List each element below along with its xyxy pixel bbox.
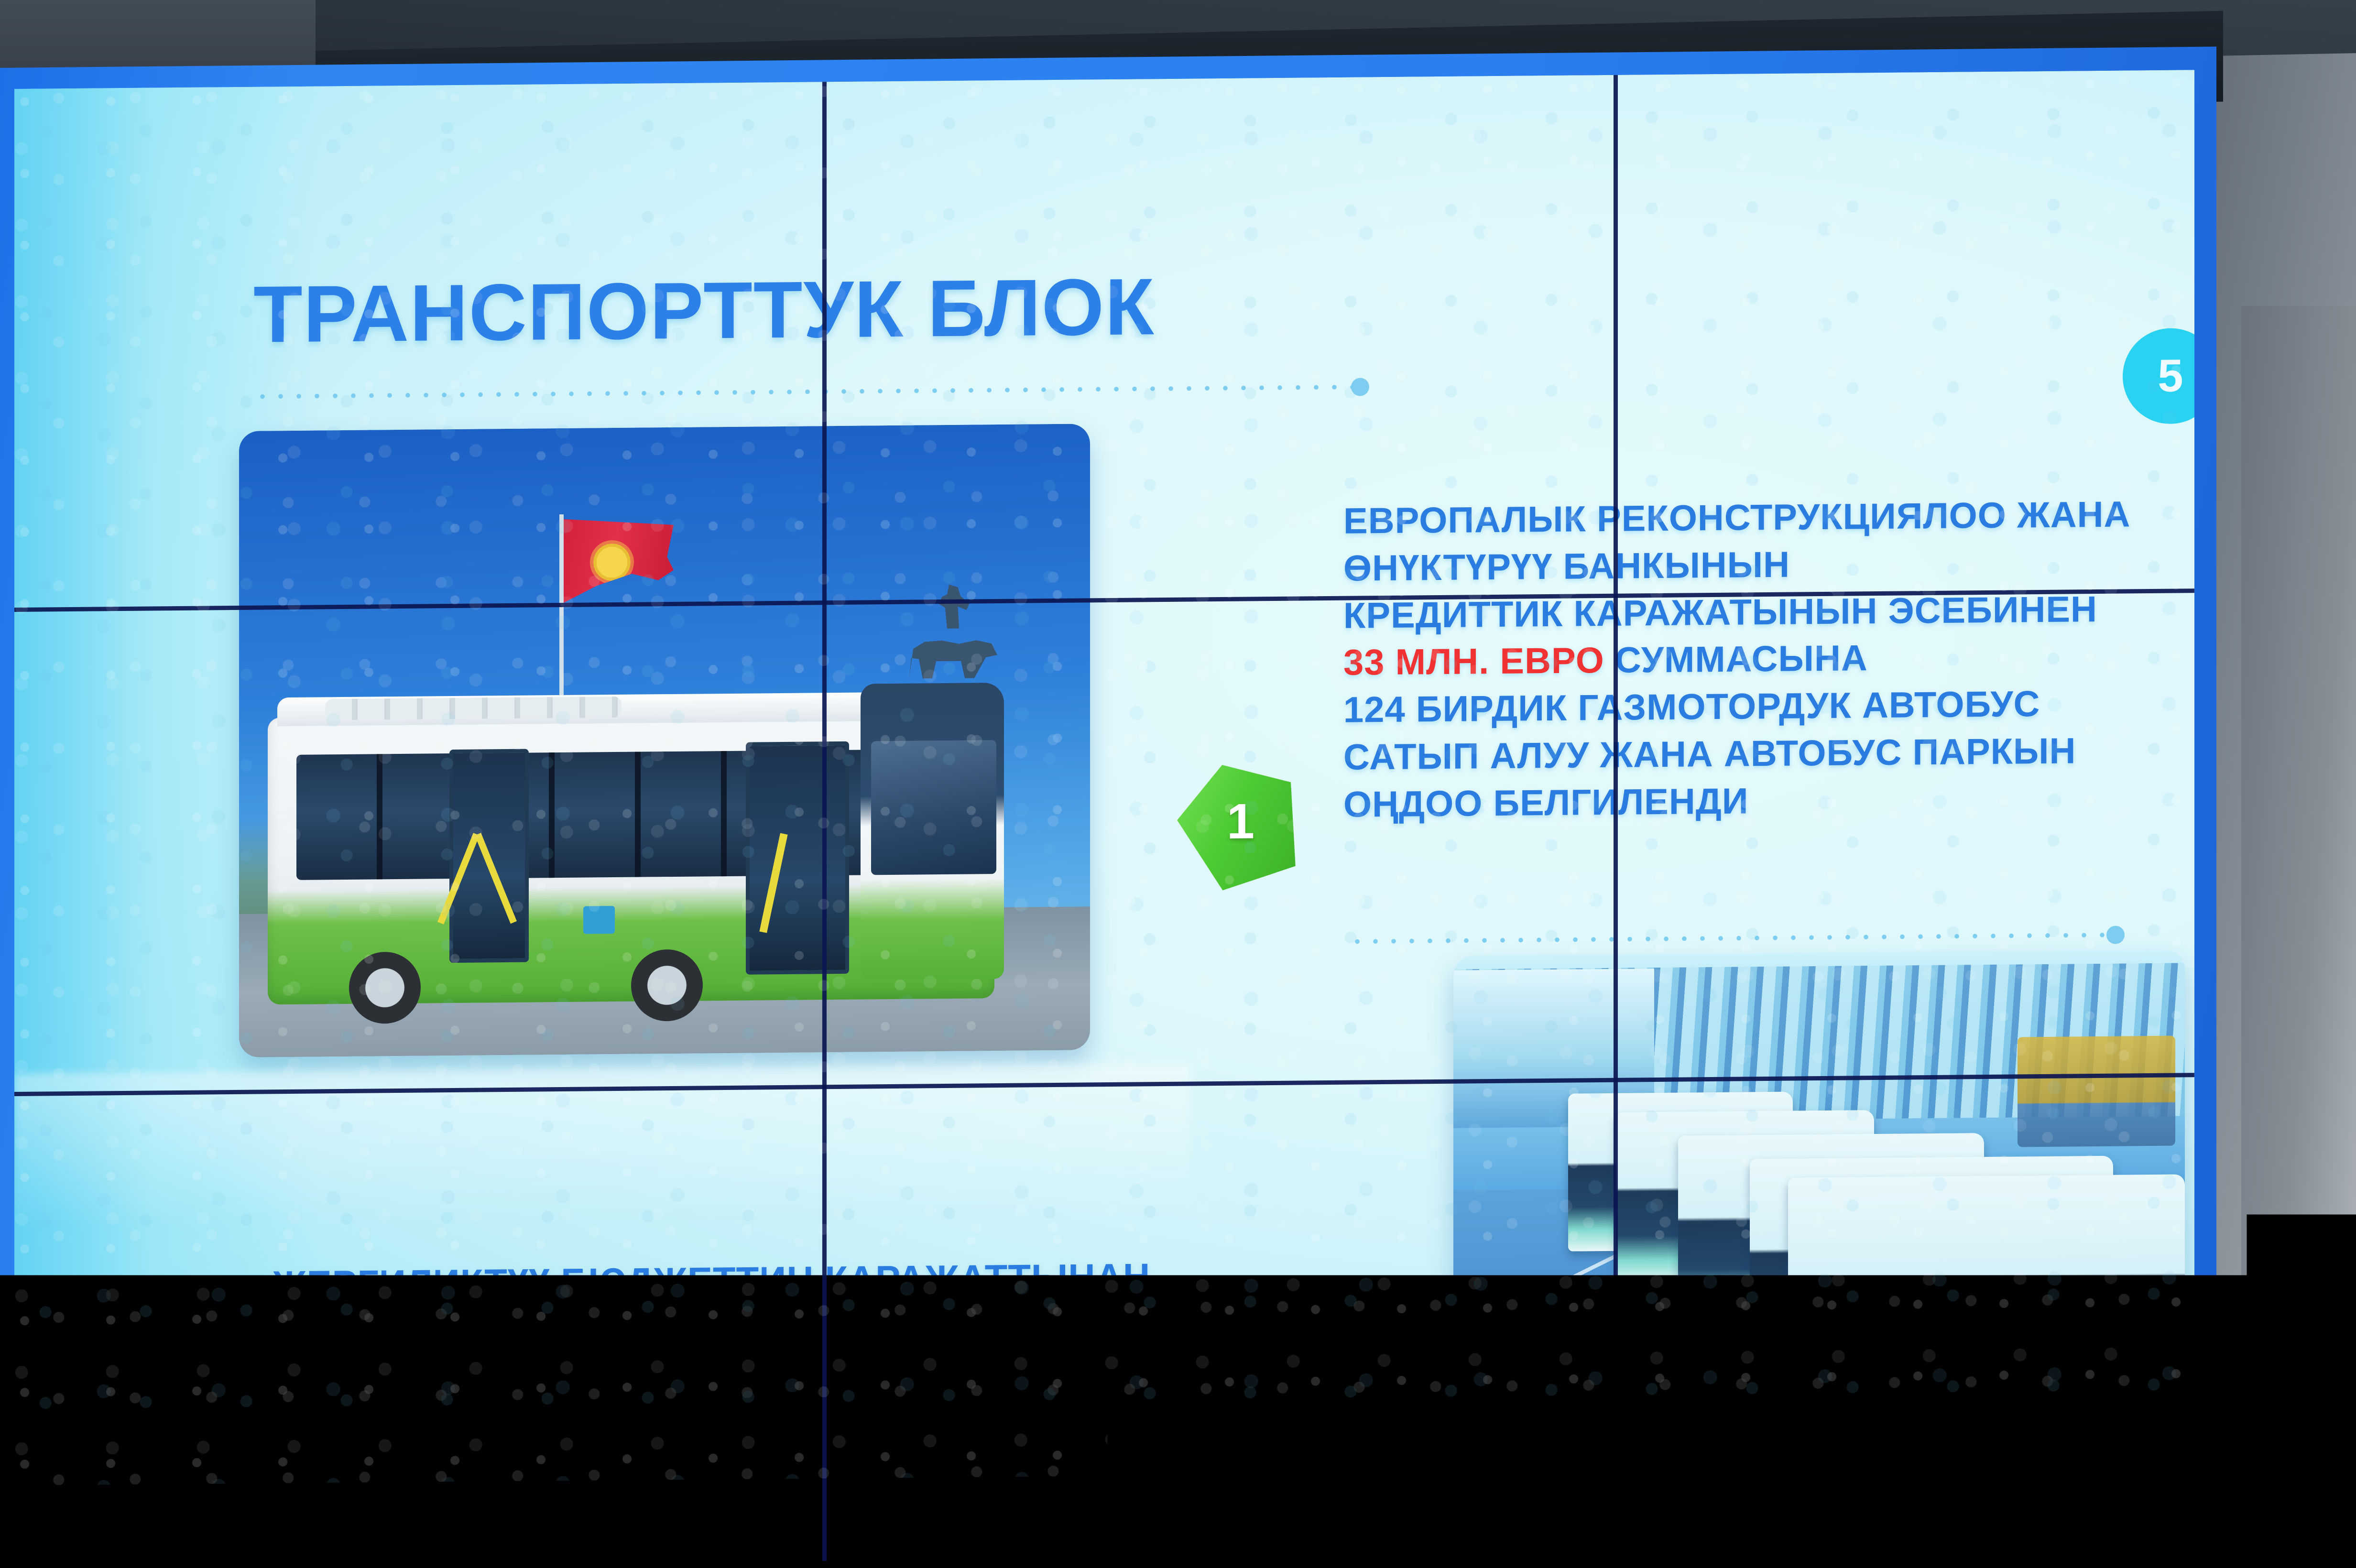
flagpole — [559, 514, 564, 792]
lot-stripe — [1563, 1320, 1745, 1414]
depot-bus — [1678, 1133, 1984, 1322]
item-2-line-2-rest: 120 БИРДИК ГАЗМОТОРДУК — [562, 1309, 1094, 1356]
bus-roof — [277, 692, 880, 726]
statue-rider — [937, 585, 971, 629]
green-white-city-bus — [268, 711, 994, 1004]
photo2-parking-lot — [1453, 1184, 2185, 1415]
door-handrail-1 — [437, 833, 480, 924]
item-1-line-5: 124 БИРДИК ГАЗМОТОРДУК АВТОБУС — [1343, 679, 2194, 734]
bus-front-section — [861, 683, 1004, 980]
photo2-background — [1453, 949, 2185, 1415]
item-1-line-4-rest: СУММАСЫНА — [1604, 638, 1868, 681]
bezel-seam-horizontal-1 — [14, 588, 2194, 612]
item-1-line-7: ОҢДОО БЕЛГИЛЕНДИ — [1343, 774, 2194, 829]
bus-operator-logo-icon — [583, 906, 615, 934]
slide-left-glow — [14, 86, 320, 1568]
door-handrail-2 — [475, 833, 517, 924]
lot-stripe — [1511, 1274, 1710, 1375]
item-2-line-2: 1 МЛРД СОМГО 120 БИРДИК ГАЗМОТОРДУК — [273, 1300, 1487, 1364]
page-title: ТРАНСПОРТТУК БЛОК — [253, 261, 1155, 360]
photo-city-bus-with-kyrgyz-flag — [239, 424, 1090, 1057]
photo2-depot-hall — [1453, 969, 1654, 1128]
item-1-line-6: САТЫП АЛУУ ЖАНА АВТОБУС ПАРКЫН — [1343, 727, 2194, 782]
item-2-line-3: АВТОБУС САТЫП АЛУУ — [273, 1353, 1487, 1417]
item-1-text-block: ЕВРОПАЛЫК РЕКОНСТРУКЦИЯЛОО ЖАНА ӨНҮКТҮРҮ… — [1343, 490, 2194, 828]
item-1-rule-end-dot — [2106, 926, 2125, 944]
roof-gas-tanks — [325, 697, 622, 720]
photo1-sky — [239, 424, 1090, 1057]
badge-2-label: 2 — [122, 1336, 150, 1393]
item-number-badge-2: 2 — [61, 1289, 211, 1440]
item-1-line-3: КРЕДИТТИК КАРАЖАТЫНЫН ЭСЕБИНЕН — [1343, 585, 2194, 640]
depot-bus — [1568, 1092, 1793, 1252]
title-dotted-rule — [253, 383, 1353, 401]
photo1-ground — [239, 906, 1090, 1057]
bezel-seam-horizontal-2 — [14, 1073, 2194, 1096]
item-2-dotted-rule — [827, 1416, 1343, 1428]
bus-body — [268, 711, 994, 1004]
photo1-treeline — [239, 816, 507, 924]
bezel-seam-vertical-1 — [822, 82, 827, 1561]
item-2-text-block: ЖЕРГИЛИКТҮҮ БЮДЖЕТТИН КАРАЖАТТЫНАН 1 МЛР… — [273, 1247, 1487, 1416]
equestrian-statue — [904, 582, 1004, 679]
video-wall-screen[interactable]: ТРАНСПОРТТУК БЛОК 5 — [14, 70, 2194, 1568]
slide-bottom-glow — [14, 1348, 2194, 1568]
right-pillar — [2241, 306, 2356, 1568]
depot-bus — [1616, 1110, 1874, 1285]
door-handrail-3 — [759, 833, 787, 933]
bus-wheel-rear — [349, 952, 421, 1024]
presentation-slide: ТРАНСПОРТТУК БЛОК 5 — [14, 70, 2194, 1568]
slide-content: ТРАНСПОРТТУК БЛОК 5 — [14, 70, 2194, 1568]
photo2-machinery — [2018, 1036, 2175, 1147]
kyrgyzstan-flag-icon — [564, 518, 674, 603]
bus-side-windows — [296, 750, 884, 880]
bus-rear-door — [449, 749, 529, 963]
depot-bus-foreground — [1788, 1174, 2185, 1402]
item-1-line-1: ЕВРОПАЛЫК РЕКОНСТРУКЦИЯЛОО ЖАНА — [1343, 490, 2194, 545]
title-rule-end-dot — [1351, 378, 1369, 396]
item-2-line-1: ЖЕРГИЛИКТҮҮ БЮДЖЕТТИН КАРАЖАТТЫНАН — [273, 1247, 1487, 1311]
page-number-label: 5 — [2158, 349, 2183, 402]
amount-highlight-som: 1 МЛРД СОМГО — [273, 1314, 562, 1358]
item-2-rule-end-dot — [1342, 1410, 1360, 1428]
person-standing — [2051, 1304, 2084, 1395]
amount-highlight-euro: 33 МЛН. ЕВРО — [1343, 640, 1604, 683]
flag-sun-emblem — [593, 544, 631, 581]
item-1-line-2: ӨНҮКТҮРҮҮ БАНКЫНЫН — [1343, 538, 2194, 593]
item-1-dotted-rule — [1348, 931, 2108, 946]
bus-wheel-front — [631, 949, 703, 1021]
photo2-distant-bus-row — [1453, 963, 2185, 1122]
page-number-badge: 5 — [2123, 328, 2194, 425]
item-number-badge-1: 1 — [1165, 746, 1316, 897]
lot-stripe — [1463, 1231, 1662, 1333]
item-1-line-4: 33 МЛН. ЕВРО СУММАСЫНА — [1343, 632, 2194, 687]
screen-reflection-sheen — [14, 1064, 1190, 1227]
bus-front-door — [746, 741, 849, 975]
bezel-seam-vertical-2 — [1614, 75, 1618, 1554]
photo-bus-depot-fleet — [1453, 949, 2185, 1415]
badge-1-label: 1 — [1227, 793, 1254, 850]
conference-room-background: ТРАНСПОРТТУК БЛОК 5 — [0, 0, 2356, 1568]
statue-horse — [904, 621, 999, 679]
bus-windshield — [871, 740, 996, 875]
depot-bus — [1750, 1156, 2113, 1365]
